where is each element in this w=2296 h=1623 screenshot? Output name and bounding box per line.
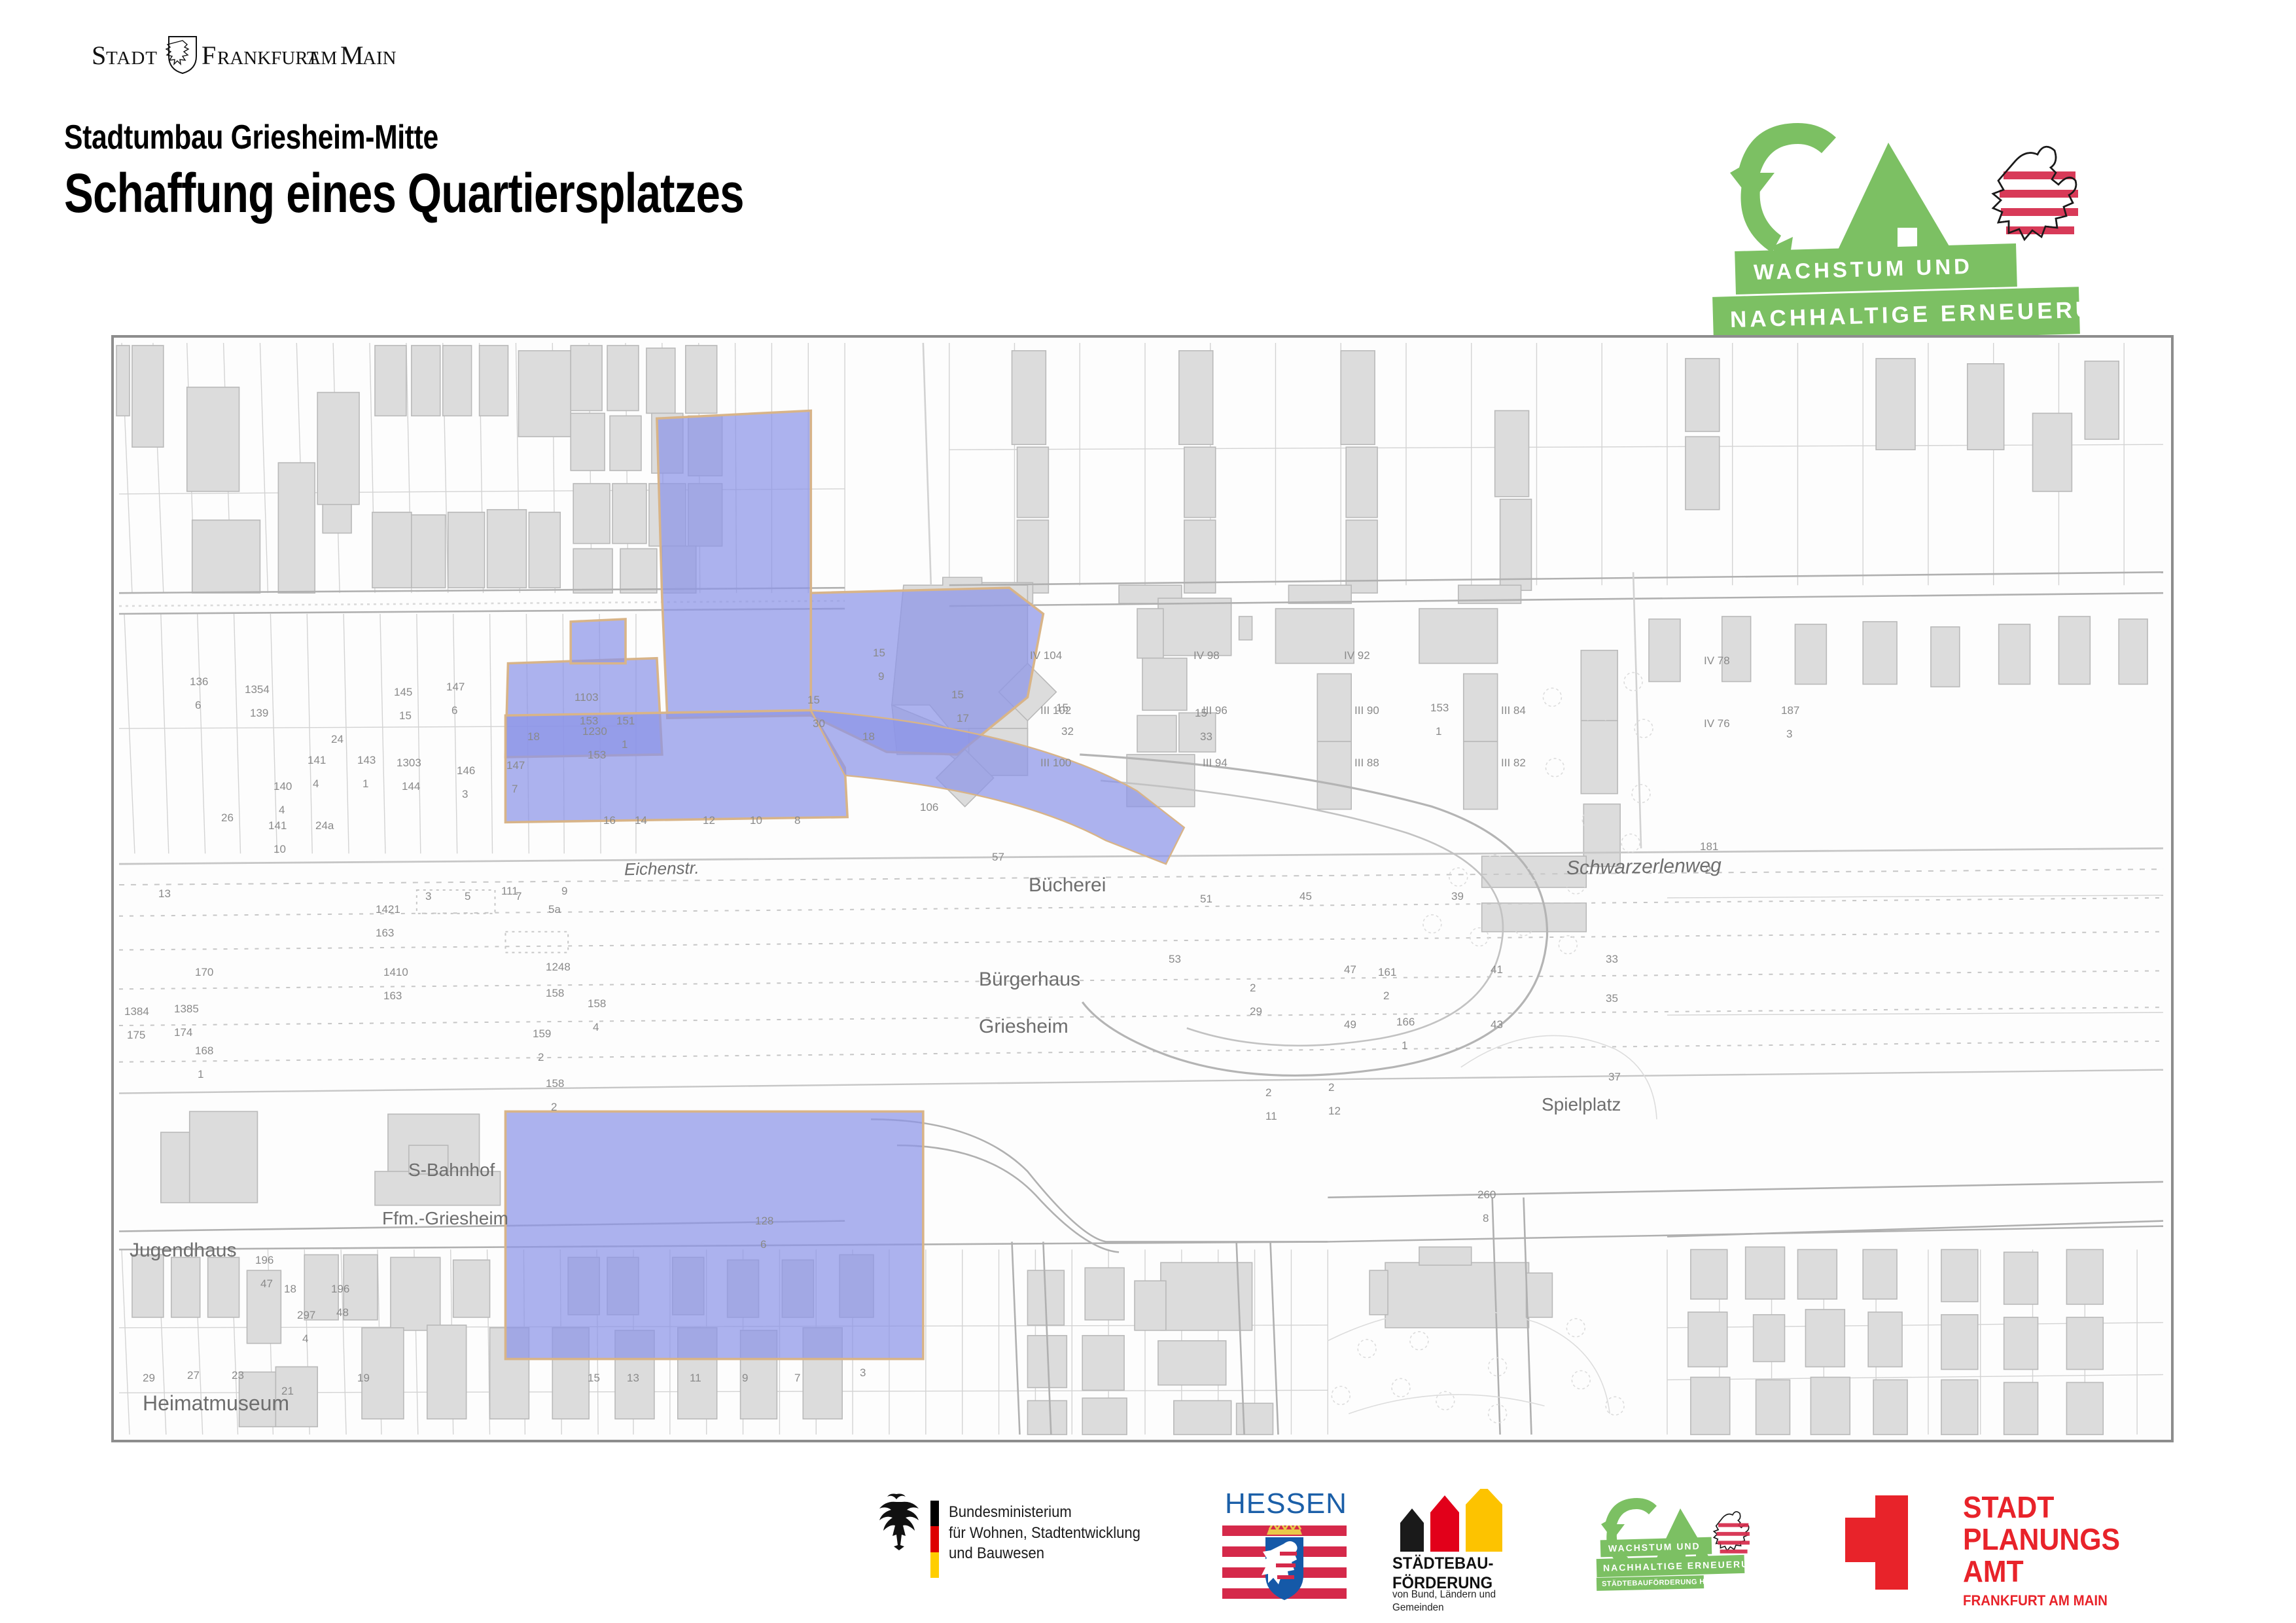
parcel-number: IV 98 [1193, 649, 1220, 662]
parcel-number: 146 [457, 764, 475, 777]
parcel-number: 27 [187, 1369, 200, 1382]
stadtplanungsamt-wordmark: STADT PLANUNGS AMT [1963, 1491, 2120, 1587]
place-label: Heimatmuseum [143, 1391, 289, 1416]
highlight-main-north-corridor [657, 410, 811, 718]
parcel-number: 10 [750, 814, 762, 827]
parcel-number: 45 [1299, 890, 1312, 903]
parcel-number: 3 [1786, 728, 1792, 741]
svg-text:RANKFURT: RANKFURT [217, 48, 319, 69]
hessen-logo: HESSEN [1222, 1488, 1347, 1599]
wachstum-footer-band1: WACHSTUM UND [1600, 1537, 1712, 1558]
svg-text:M: M [340, 41, 364, 70]
parcel-number: 53 [1169, 953, 1181, 966]
staedtebau-line1: STÄDTEBAU- [1392, 1554, 1493, 1574]
bmwsb-line1: Bundesministerium [949, 1502, 1140, 1523]
place-label: Spielplatz [1542, 1094, 1621, 1115]
parcel-number: 15 [399, 709, 412, 722]
parcel-number: 49 [1344, 1018, 1356, 1031]
bmwsb-line2: für Wohnen, Stadtentwicklung [949, 1523, 1140, 1544]
parcel-number: 26 [221, 811, 234, 825]
staedtebau-sub2: Gemeinden [1392, 1601, 1496, 1614]
highlight-parcel-158-4 [571, 619, 626, 664]
parcel-number: 43 [1491, 1018, 1503, 1031]
parcel-number: 136 [190, 675, 208, 688]
parcel-number: 147 [506, 759, 525, 772]
parcel-number: 3 [425, 890, 431, 903]
parcel-number: 8 [1483, 1212, 1489, 1225]
parcel-number: 15 [1056, 702, 1069, 715]
parcel-number: 15 [1195, 707, 1207, 720]
parcel-number: 141 [268, 819, 287, 832]
parcel-number: 2 [1328, 1081, 1334, 1094]
staedtebau-sub: von Bund, Ländern und Gemeinden [1392, 1588, 1496, 1614]
parcel-number: 158 [588, 997, 606, 1010]
parcel-number: 29 [1250, 1005, 1262, 1018]
parcel-number: 170 [195, 966, 213, 979]
hessen-lion-icon [1714, 1512, 1750, 1554]
parcel-number: 14 [635, 814, 647, 827]
cadastral-map[interactable]: Eichenstr.SchwarzerlenwegErzbergerstr.Am… [111, 335, 2174, 1442]
stadtplanungsamt-block-icon [1845, 1490, 1943, 1595]
parcel-number: III 100 [1040, 757, 1071, 770]
parcel-number: 11 [1265, 1110, 1277, 1123]
parcel-number: 141 [308, 754, 326, 767]
city-wordmark-logo: S TADT F RANKFURT AM M AIN [92, 31, 510, 75]
parcel-number: 7 [512, 783, 518, 796]
german-flag-bar-icon [930, 1501, 939, 1578]
highlight-corridor-south [505, 710, 847, 822]
parcel-number: 159 [533, 1027, 551, 1041]
parcel-number: 1410 [383, 966, 408, 979]
parcel-number: 13 [627, 1372, 639, 1385]
parcel-number: 2 [1250, 982, 1256, 995]
parcel-number: 5 [465, 890, 470, 903]
parcel-number: 143 [357, 754, 376, 767]
bmwsb-logo: Bundesministerium für Wohnen, Stadtentwi… [870, 1491, 1210, 1583]
hessen-wordmark: HESSEN [1225, 1488, 1347, 1520]
parcel-number: 106 [920, 801, 938, 814]
parcel-number: 21 [281, 1385, 294, 1398]
parcel-number: 2 [1265, 1086, 1271, 1099]
hessen-flag-icon [1222, 1525, 1347, 1601]
parcel-number: 16 [603, 814, 616, 827]
spa-line3: AMT [1963, 1556, 2120, 1588]
parcel-number: 5a [548, 903, 561, 916]
wachstum-footer-band3: STÄDTEBAUFÖRDERUNG HESSEN [1597, 1575, 1704, 1591]
parcel-number: 153 [588, 749, 606, 762]
funding-logos-footer: Bundesministerium für Wohnen, Stadtentwi… [0, 1476, 2296, 1607]
parcel-number: 1384 [124, 1005, 149, 1018]
parcel-number: 24a [315, 819, 334, 832]
place-label: Bürgerhaus [979, 969, 1080, 991]
parcel-number: 30 [813, 717, 825, 730]
parcel-number: IV 92 [1344, 649, 1370, 662]
parcel-number: 18 [527, 730, 540, 743]
parcel-number: 1103 [574, 691, 599, 704]
parcel-number: 151 [616, 715, 635, 728]
parcel-number: 196 [331, 1283, 349, 1296]
parcel-number: 2 [1383, 990, 1389, 1003]
parcel-number: 1 [362, 777, 368, 791]
svg-text:S: S [92, 41, 107, 70]
parcel-number: 140 [274, 780, 292, 793]
parcel-number: 128 [755, 1215, 773, 1228]
parcel-number: 15 [873, 647, 885, 660]
street-label: Schwarzerlenweg [1566, 855, 1722, 880]
parcel-number: 1230 [582, 725, 607, 738]
parcel-number: 9 [878, 670, 884, 683]
stadtplanungsamt-logo: STADT PLANUNGS AMT FRANKFURT AM MAIN [1845, 1490, 2159, 1595]
parcel-number: 32 [1061, 725, 1074, 738]
parcel-number: 33 [1200, 730, 1212, 743]
parcel-number: 1354 [245, 683, 270, 696]
parcel-number: 24 [331, 733, 344, 746]
parcel-number: 161 [1378, 966, 1396, 979]
parcel-number: 10 [274, 843, 286, 856]
parcel-number: 13 [158, 887, 171, 901]
parcel-number: 35 [1606, 992, 1618, 1005]
title-block: Stadtumbau Griesheim-Mitte Schaffung ein… [64, 119, 1569, 223]
parcel-number: 7 [516, 890, 521, 903]
bundesadler-icon [870, 1491, 923, 1563]
bmwsb-text: Bundesministerium für Wohnen, Stadtentwi… [949, 1502, 1140, 1564]
parcel-number: 47 [1344, 963, 1356, 976]
parcel-number: 1 [501, 885, 507, 898]
parcel-number: 37 [1608, 1071, 1621, 1084]
staedtebau-caption: STÄDTEBAU- FÖRDERUNG [1392, 1554, 1493, 1593]
street-label: Eichenstr. [624, 858, 699, 880]
parcel-number: 1 [1402, 1039, 1407, 1052]
parcel-number: 4 [313, 777, 319, 791]
parcel-number: 6 [195, 699, 201, 712]
parcel-number: 4 [279, 804, 285, 817]
parcel-number: 158 [546, 987, 564, 1000]
parcel-number: III 88 [1354, 757, 1379, 770]
page-title: Schaffung eines Quartiersplatzes [64, 165, 1268, 222]
parcel-number: 25 [245, 1440, 257, 1442]
spa-subline: FRANKFURT AM MAIN [1963, 1592, 2108, 1609]
spa-line2: PLANUNGS [1963, 1524, 2120, 1556]
parcel-number: 57 [992, 851, 1004, 864]
parcel-number: 11 [690, 1372, 701, 1385]
parcel-number: 19 [357, 1372, 370, 1385]
parcel-number: 9 [742, 1372, 748, 1385]
parcel-number: III 94 [1203, 757, 1227, 770]
parcel-number: 147 [446, 681, 465, 694]
parcel-number: 196 [255, 1254, 274, 1267]
frankfurt-eagle-crest-icon [166, 37, 196, 73]
parcel-number: III 82 [1501, 757, 1526, 770]
staedtebau-sub1: von Bund, Ländern und [1392, 1588, 1496, 1601]
house-arrow-up-icon [1836, 143, 1954, 254]
svg-text:TADT: TADT [106, 48, 158, 69]
parcel-number: 6 [760, 1238, 766, 1251]
parcel-number: 47 [260, 1277, 273, 1291]
parcel-number: 23 [232, 1369, 244, 1382]
parcel-number: IV 76 [1704, 717, 1730, 730]
parcel-number: 15 [951, 688, 964, 702]
parcel-number: 3 [860, 1366, 866, 1380]
parcel-number: 166 [1396, 1016, 1415, 1029]
parcel-number: 168 [195, 1044, 213, 1058]
parcel-number: 12 [1328, 1105, 1341, 1118]
parcel-number: 4 [302, 1332, 308, 1346]
parcel-number: 144 [402, 780, 420, 793]
parcel-number: 1248 [546, 961, 571, 974]
bmwsb-line3: und Bauwesen [949, 1543, 1140, 1564]
wachstum-band-line1: WACHSTUM UND [1735, 243, 2017, 294]
wachstum-footer-logo: WACHSTUM UND NACHHALTIGE ERNEUERUNG STÄD… [1597, 1494, 1793, 1592]
staedtebaufoerderung-logo: STÄDTEBAU- FÖRDERUNG von Bund, Ländern u… [1392, 1489, 1543, 1600]
three-houses-icon [1392, 1489, 1523, 1552]
parcel-number: 18 [862, 730, 875, 743]
parcel-number: 174 [174, 1026, 192, 1039]
parcel-number: 15 [588, 1372, 600, 1385]
parcel-number: 163 [383, 990, 402, 1003]
parcel-number: 17 [957, 712, 969, 725]
place-label: S-Bahnhof [408, 1160, 495, 1181]
parcel-number: 51 [1200, 893, 1212, 906]
parcel-number: 1421 [376, 903, 400, 916]
parcel-number: IV 78 [1704, 654, 1730, 668]
parcel-number: 39 [1451, 890, 1464, 903]
parcel-number: 175 [127, 1029, 145, 1042]
parcel-number: 29 [143, 1372, 155, 1385]
parcel-number: 33 [1606, 953, 1618, 966]
parcel-number: 145 [394, 686, 412, 699]
parcel-number: 12 [703, 814, 715, 827]
parcel-number: 41 [1491, 963, 1503, 976]
parcel-number: 1303 [397, 757, 421, 770]
project-subtitle: Stadtumbau Griesheim-Mitte [64, 119, 1298, 156]
map-drawing [114, 338, 2171, 1440]
parcel-number: 2 [551, 1101, 557, 1114]
parcel-number: 139 [250, 707, 268, 720]
parcel-number: 158 [546, 1077, 564, 1090]
parcel-number: 1385 [174, 1003, 199, 1016]
svg-text:AM: AM [308, 48, 337, 69]
parcel-number: 297 [297, 1309, 315, 1322]
spa-line1: STADT [1963, 1491, 2120, 1524]
parcel-number: 3 [462, 788, 468, 801]
parcel-number: 9 [561, 885, 567, 898]
parcel-number: 260 [1477, 1188, 1496, 1202]
parcel-number: 181 [1700, 840, 1718, 853]
parcel-number: 4 [593, 1021, 599, 1034]
svg-text:AIN: AIN [362, 48, 397, 69]
parcel-number: 7 [794, 1372, 800, 1385]
parcel-number: 1 [1436, 725, 1441, 738]
parcel-number: 2 [538, 1051, 544, 1064]
parcel-number: IV 104 [1030, 649, 1062, 662]
parcel-number: 2 [1705, 864, 1711, 877]
parcel-number: III 90 [1354, 704, 1379, 717]
place-label: Ffm.-Griesheim [382, 1208, 508, 1229]
place-label: Jugendhaus [130, 1240, 236, 1262]
parcel-number: 18 [284, 1283, 296, 1296]
parcel-number: 8 [794, 814, 800, 827]
parcel-number: 1 [198, 1068, 203, 1081]
parcel-number: 153 [1430, 702, 1449, 715]
parcel-number: 6 [451, 704, 457, 717]
place-label: Bücherei [1029, 874, 1106, 897]
parcel-number: 187 [1781, 704, 1799, 717]
parcel-number: 15 [807, 694, 820, 707]
place-label: Griesheim [979, 1016, 1069, 1038]
highlight-south-platz [505, 1111, 923, 1359]
parcel-number: 1 [622, 738, 627, 751]
svg-text:F: F [202, 41, 216, 70]
recycle-arrow-icon [1730, 123, 1836, 263]
hessen-lion-icon [1993, 147, 2078, 240]
parcel-number: 163 [376, 927, 394, 940]
parcel-number: 48 [336, 1306, 349, 1319]
parcel-number: III 84 [1501, 704, 1526, 717]
